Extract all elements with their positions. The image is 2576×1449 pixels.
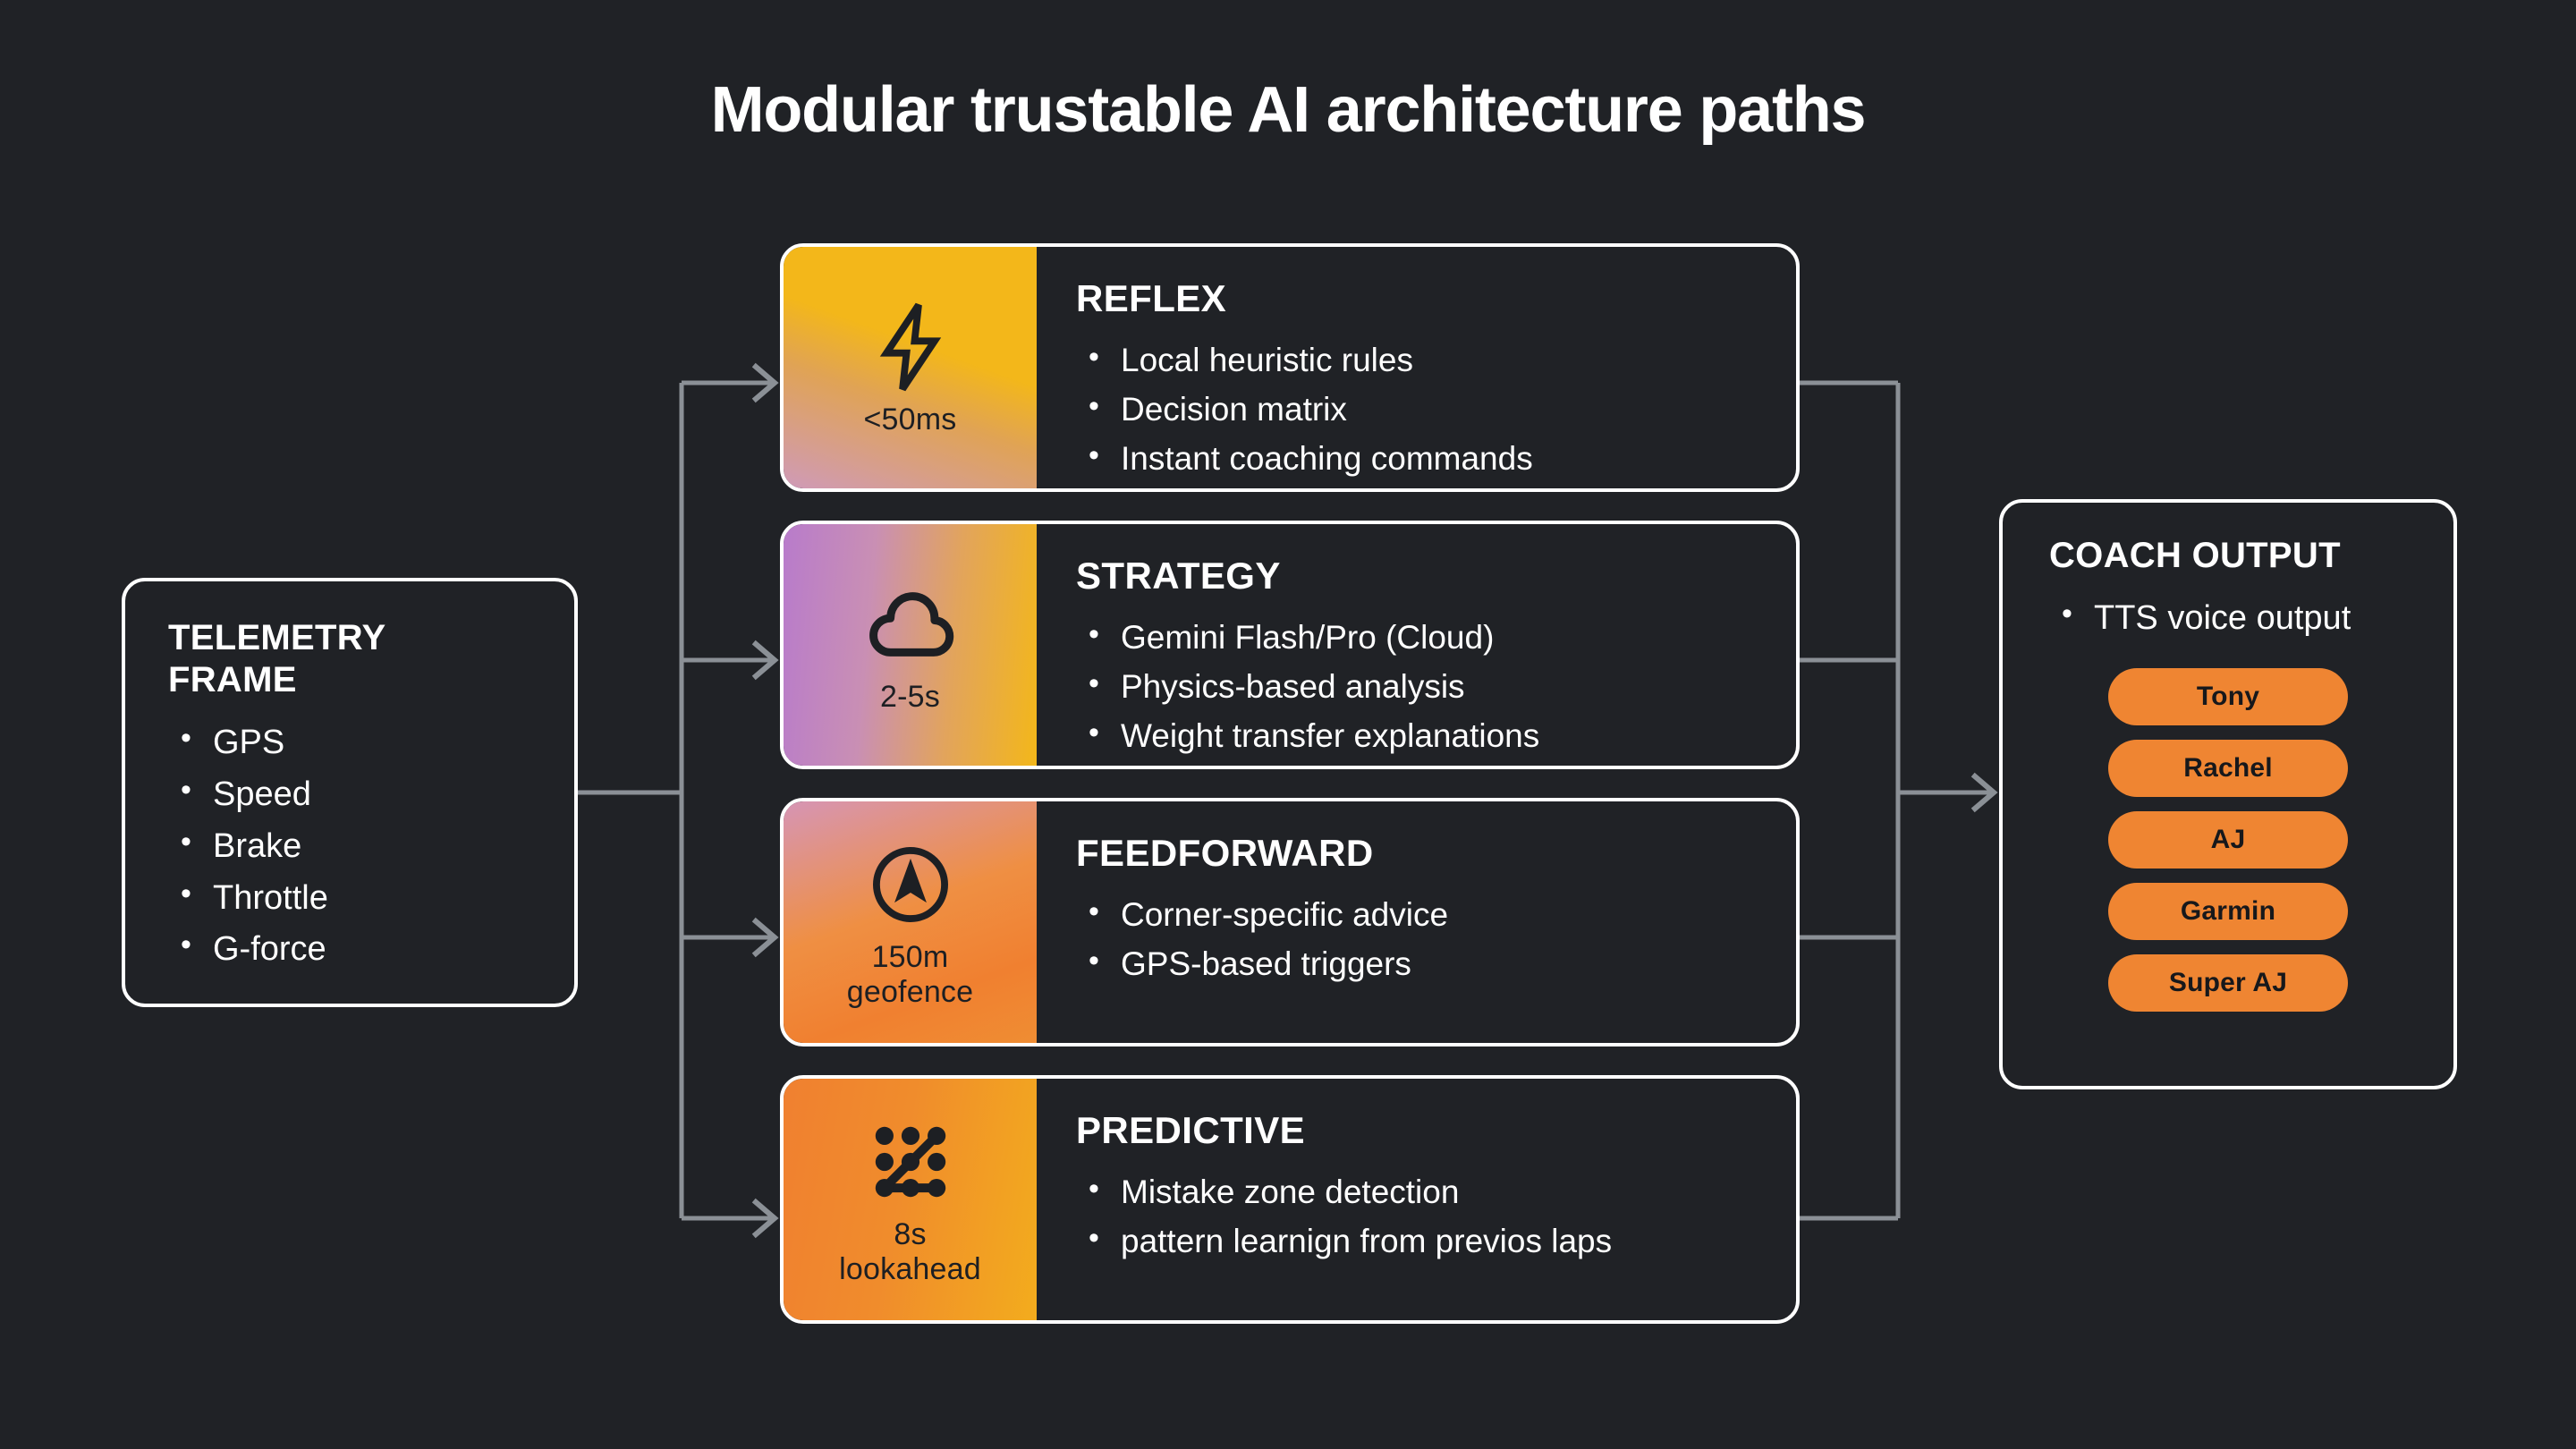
coach-output-box: COACH OUTPUT TTS voice output Tony Rache… (1999, 499, 2457, 1089)
feedforward-latency: 150mgeofence (847, 940, 974, 1011)
predictive-list: Mistake zone detection pattern learnign … (1076, 1168, 1796, 1267)
feedforward-list: Corner-specific advice GPS-based trigger… (1076, 891, 1796, 989)
predictive-title: PREDICTIVE (1076, 1109, 1796, 1152)
list-item: pattern learnign from previos laps (1076, 1217, 1796, 1267)
layer-card-reflex[interactable]: <50ms REFLEX Local heuristic rules Decis… (780, 243, 1800, 492)
reflex-latency: <50ms (864, 402, 957, 437)
scatter-trend-icon (860, 1112, 961, 1212)
voice-pill-aj[interactable]: AJ (2108, 811, 2348, 869)
coach-output-list: TTS voice output (2003, 593, 2453, 645)
layer-card-predictive[interactable]: 8slookahead PREDICTIVE Mistake zone dete… (780, 1075, 1800, 1324)
telemetry-heading: TELEMETRY FRAME (168, 617, 574, 701)
list-item: Corner-specific advice (1076, 891, 1796, 940)
voice-pill-group: Tony Rachel AJ Garmin Super AJ (2003, 668, 2453, 1012)
feedforward-body: FEEDFORWARD Corner-specific advice GPS-b… (1037, 801, 1796, 1043)
strategy-latency: 2-5s (880, 680, 940, 715)
strategy-icon-panel: 2-5s (784, 524, 1037, 766)
diagram-canvas: Modular trustable AI architecture paths … (0, 0, 2576, 1449)
feedforward-icon-panel: 150mgeofence (784, 801, 1037, 1043)
coach-output-heading: COACH OUTPUT (2003, 535, 2453, 577)
layer-card-feedforward[interactable]: 150mgeofence FEEDFORWARD Corner-specific… (780, 798, 1800, 1046)
voice-pill-super-aj[interactable]: Super AJ (2108, 954, 2348, 1012)
reflex-list: Local heuristic rules Decision matrix In… (1076, 336, 1796, 483)
list-item: Weight transfer explanations (1076, 712, 1796, 761)
cloud-icon (860, 574, 961, 674)
list-item: Decision matrix (1076, 386, 1796, 435)
telemetry-frame-box: TELEMETRY FRAME GPS Speed Brake Throttle… (122, 578, 578, 1007)
list-item: GPS-based triggers (1076, 940, 1796, 989)
list-item: Instant coaching commands (1076, 435, 1796, 484)
predictive-icon-panel: 8slookahead (784, 1079, 1037, 1320)
layer-card-strategy[interactable]: 2-5s STRATEGY Gemini Flash/Pro (Cloud) P… (780, 521, 1800, 769)
predictive-latency: 8slookahead (839, 1217, 981, 1288)
strategy-list: Gemini Flash/Pro (Cloud) Physics-based a… (1076, 614, 1796, 760)
predictive-body: PREDICTIVE Mistake zone detection patter… (1037, 1079, 1796, 1320)
arrowhead-feedforward (756, 921, 775, 953)
feedforward-title: FEEDFORWARD (1076, 832, 1796, 875)
lightning-bolt-icon (860, 297, 961, 397)
list-item: Speed (168, 769, 574, 821)
navigation-compass-icon (860, 835, 961, 935)
reflex-icon-panel: <50ms (784, 247, 1037, 488)
arrowhead-strategy (756, 644, 775, 676)
list-item: Throttle (168, 873, 574, 925)
strategy-body: STRATEGY Gemini Flash/Pro (Cloud) Physic… (1037, 524, 1796, 766)
strategy-title: STRATEGY (1076, 555, 1796, 597)
arrowhead-predictive (756, 1202, 775, 1234)
list-item: Local heuristic rules (1076, 336, 1796, 386)
reflex-title: REFLEX (1076, 277, 1796, 320)
list-item: GPS (168, 717, 574, 769)
voice-pill-rachel[interactable]: Rachel (2108, 740, 2348, 797)
list-item: G-force (168, 924, 574, 976)
list-item: Brake (168, 821, 574, 873)
reflex-body: REFLEX Local heuristic rules Decision ma… (1037, 247, 1796, 488)
page-title: Modular trustable AI architecture paths (0, 73, 2576, 147)
list-item: Mistake zone detection (1076, 1168, 1796, 1217)
arrowhead-reflex (756, 367, 775, 399)
list-item: TTS voice output (2049, 593, 2453, 645)
voice-pill-garmin[interactable]: Garmin (2108, 883, 2348, 940)
voice-pill-tony[interactable]: Tony (2108, 668, 2348, 725)
arrowhead-output (1975, 776, 1994, 809)
list-item: Physics-based analysis (1076, 663, 1796, 712)
telemetry-list: GPS Speed Brake Throttle G-force (168, 717, 574, 976)
list-item: Gemini Flash/Pro (Cloud) (1076, 614, 1796, 663)
